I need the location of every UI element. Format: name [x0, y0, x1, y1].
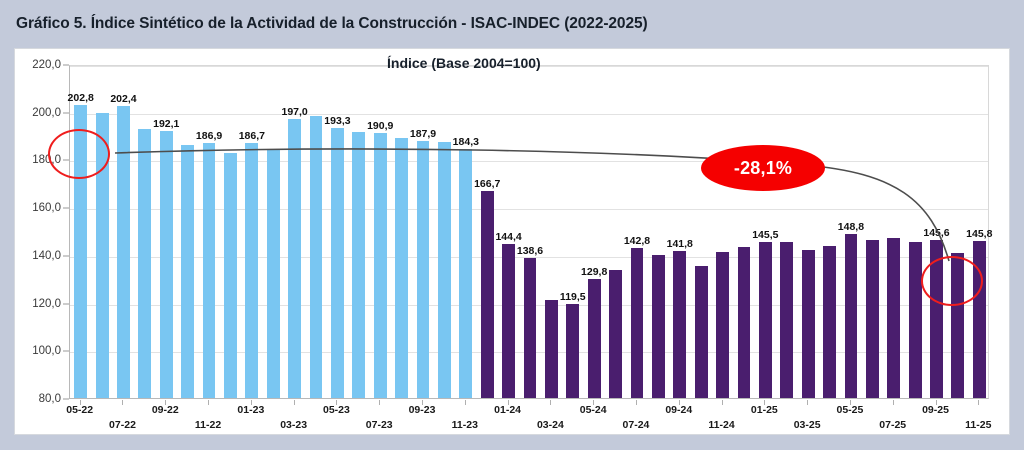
- bar-10-25: [951, 253, 964, 398]
- bar-value-label: 129,8: [581, 266, 607, 278]
- y-axis-label: 80,0: [39, 393, 61, 405]
- bar-04-25: [823, 246, 836, 398]
- x-axis-label-03-23: 03-23: [280, 419, 307, 431]
- bar-value-label: 148,8: [838, 221, 864, 233]
- bar-02-25: [780, 242, 793, 399]
- x-axis-label-03-24: 03-24: [537, 419, 564, 431]
- bar-value-label: 145,8: [966, 228, 992, 240]
- bar-07-23: [374, 133, 387, 398]
- bar-10-23: [438, 142, 451, 398]
- y-axis-label: 200,0: [32, 107, 61, 119]
- bar-09-23: [417, 141, 430, 398]
- x-axis-label-09-24: 09-24: [665, 404, 692, 416]
- x-axis-label-03-25: 03-25: [794, 419, 821, 431]
- x-axis-label-07-24: 07-24: [623, 419, 650, 431]
- x-axis-tick: [294, 400, 295, 405]
- x-axis-label-01-23: 01-23: [237, 404, 264, 416]
- x-axis-label-11-25: 11-25: [965, 419, 991, 431]
- bar-02-23: [267, 149, 280, 398]
- x-axis-tick: [379, 400, 380, 405]
- bar-04-23: [310, 116, 323, 398]
- x-axis-label-07-23: 07-23: [366, 419, 393, 431]
- bar-03-25: [802, 250, 815, 398]
- bar-value-label: 193,3: [324, 115, 350, 127]
- plot-area: 202,8202,4192,1186,9186,7197,0193,3190,9…: [69, 65, 989, 399]
- bar-07-25: [887, 238, 900, 398]
- bar-value-label: 141,8: [667, 238, 693, 250]
- x-axis-label-11-23: 11-23: [452, 419, 478, 431]
- bar-value-label: 145,6: [923, 227, 949, 239]
- bar-08-22: [138, 129, 151, 398]
- x-axis-tick: [550, 400, 551, 405]
- bar-value-label: 145,5: [752, 229, 778, 241]
- x-axis-tick: [893, 400, 894, 405]
- x-axis-label-07-22: 07-22: [109, 419, 136, 431]
- x-axis-label-05-23: 05-23: [323, 404, 350, 416]
- bar-01-24: [502, 244, 515, 398]
- y-axis-label: 140,0: [32, 250, 61, 262]
- x-axis-label-11-22: 11-22: [195, 419, 221, 431]
- bar-06-24: [609, 270, 622, 398]
- bar-value-label: 142,8: [624, 235, 650, 247]
- bar-12-22: [224, 153, 237, 398]
- bar-11-22: [203, 143, 216, 398]
- x-axis-tick: [807, 400, 808, 405]
- bar-09-24: [673, 251, 686, 398]
- bar-value-label: 202,4: [110, 93, 136, 105]
- bar-value-label: 144,4: [495, 231, 521, 243]
- x-axis-label-05-22: 05-22: [66, 404, 93, 416]
- y-axis: 220,0200,0180,0160,0140,0120,0100,080,0: [15, 49, 69, 400]
- bar-value-label: 186,7: [239, 130, 265, 142]
- bar-08-25: [909, 242, 922, 399]
- bar-10-22: [181, 145, 194, 398]
- bar-04-24: [566, 304, 579, 398]
- y-axis-label: 100,0: [32, 345, 61, 357]
- bar-value-label: 202,8: [68, 92, 94, 104]
- bar-06-25: [866, 240, 879, 398]
- bar-value-label: 138,6: [517, 245, 543, 257]
- bar-02-24: [524, 258, 537, 398]
- series-title: Índice (Base 2004=100): [387, 55, 541, 71]
- bar-value-label: 190,9: [367, 120, 393, 132]
- x-axis-label-09-22: 09-22: [152, 404, 179, 416]
- bar-12-23: [481, 191, 494, 398]
- x-axis-label-01-24: 01-24: [494, 404, 521, 416]
- bar-06-22: [96, 113, 109, 398]
- bar-value-label: 166,7: [474, 178, 500, 190]
- bar-12-24: [738, 247, 751, 398]
- bar-value-label: 184,3: [453, 136, 479, 148]
- bar-01-23: [245, 143, 258, 398]
- bar-01-25: [759, 242, 772, 398]
- chart-title-bar: Gráfico 5. Índice Sintético de la Activi…: [0, 0, 1024, 48]
- bar-value-label: 187,9: [410, 128, 436, 140]
- bar-10-24: [695, 266, 708, 398]
- y-axis-label: 220,0: [32, 59, 61, 71]
- bar-07-24: [631, 248, 644, 398]
- bar-05-22: [74, 105, 87, 398]
- x-axis-tick: [122, 400, 123, 405]
- x-axis-label-05-25: 05-25: [836, 404, 863, 416]
- x-axis-tick: [636, 400, 637, 405]
- x-axis: 05-2207-2209-2211-2201-2303-2305-2307-23…: [69, 400, 989, 436]
- bar-07-22: [117, 106, 130, 398]
- page-title: Gráfico 5. Índice Sintético de la Activi…: [16, 15, 648, 33]
- x-axis-tick: [978, 400, 979, 405]
- bar-value-label: 192,1: [153, 118, 179, 130]
- bar-value-label: 186,9: [196, 130, 222, 142]
- bar-08-24: [652, 255, 665, 398]
- x-axis-label-01-25: 01-25: [751, 404, 778, 416]
- bar-03-24: [545, 300, 558, 398]
- bar-09-25: [930, 240, 943, 398]
- bar-11-25: [973, 241, 986, 398]
- x-axis-label-09-25: 09-25: [922, 404, 949, 416]
- bar-11-23: [459, 149, 472, 398]
- bar-05-24: [588, 279, 601, 398]
- bar-11-24: [716, 252, 729, 398]
- chart-card: 220,0200,0180,0160,0140,0120,0100,080,0 …: [14, 48, 1010, 435]
- x-axis-tick: [465, 400, 466, 405]
- x-axis-label-07-25: 07-25: [879, 419, 906, 431]
- y-axis-label: 160,0: [32, 202, 61, 214]
- y-axis-label: 120,0: [32, 298, 61, 310]
- x-axis-tick: [722, 400, 723, 405]
- bar-05-23: [331, 128, 344, 398]
- bar-value-label: 119,5: [560, 291, 586, 303]
- y-axis-label: 180,0: [32, 154, 61, 166]
- bars-layer: 202,8202,4192,1186,9186,7197,0193,3190,9…: [70, 66, 988, 398]
- bar-09-22: [160, 131, 173, 398]
- x-axis-label-09-23: 09-23: [409, 404, 436, 416]
- bar-value-label: 197,0: [282, 106, 308, 118]
- x-axis-label-11-24: 11-24: [708, 419, 734, 431]
- bar-03-23: [288, 119, 301, 398]
- x-axis-tick: [208, 400, 209, 405]
- bar-08-23: [395, 138, 408, 398]
- bar-06-23: [352, 132, 365, 398]
- bar-05-25: [845, 234, 858, 398]
- x-axis-label-05-24: 05-24: [580, 404, 607, 416]
